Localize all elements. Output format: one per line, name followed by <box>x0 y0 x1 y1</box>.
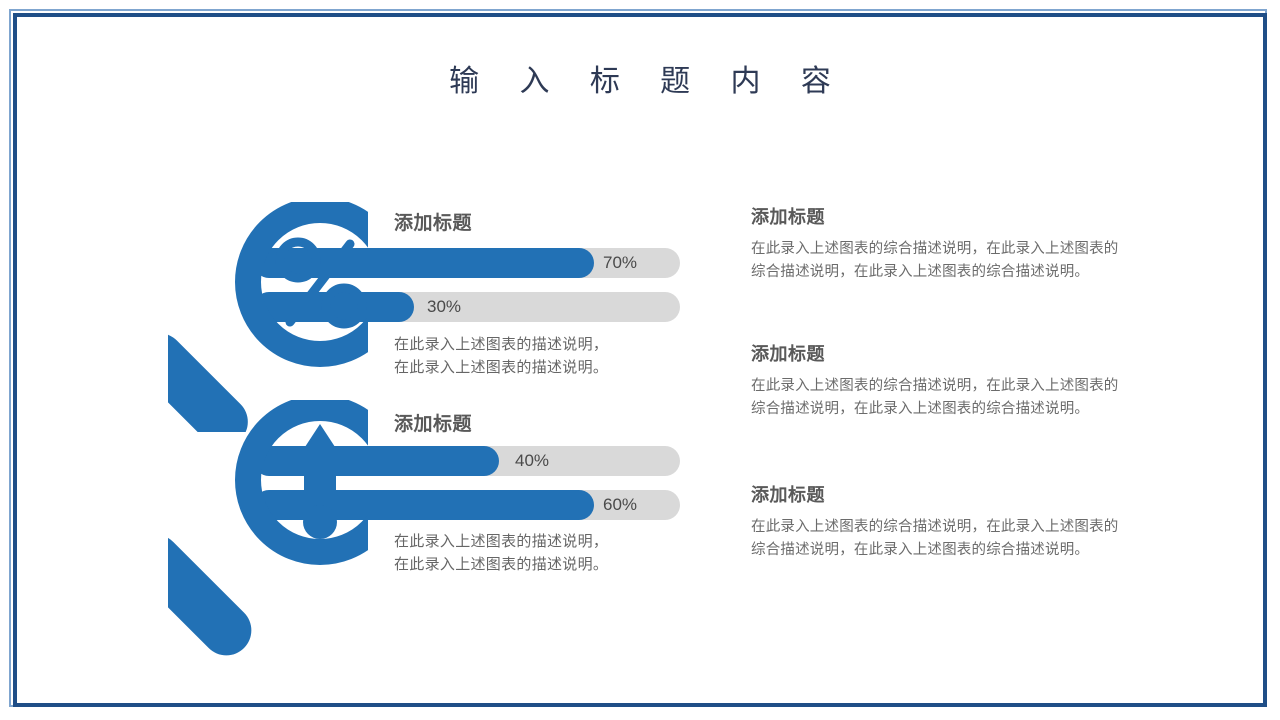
bar-value-label: 60% <box>603 490 637 520</box>
bar-value-label: 40% <box>515 446 549 476</box>
arrow-up-magnifier-icon <box>168 400 368 660</box>
right-block-2: 添加标题 在此录入上述图表的综合描述说明，在此录入上述图表的综合描述说明，在此录… <box>751 340 1126 421</box>
bar-value-label: 70% <box>603 248 637 278</box>
right-block-1: 添加标题 在此录入上述图表的综合描述说明，在此录入上述图表的综合描述说明，在此录… <box>751 203 1126 284</box>
right-block-body: 在此录入上述图表的综合描述说明，在此录入上述图表的综合描述说明，在此录入上述图表… <box>751 375 1126 421</box>
group-heading-1: 添加标题 <box>394 208 472 235</box>
percent-magnifier-icon <box>168 202 368 432</box>
group-description-1: 在此录入上述图表的描述说明， 在此录入上述图表的描述说明。 <box>394 333 694 379</box>
right-block-body: 在此录入上述图表的综合描述说明，在此录入上述图表的综合描述说明，在此录入上述图表… <box>751 238 1126 284</box>
page-title: 输 入 标 题 内 容 <box>0 56 1280 100</box>
slide-canvas: 输 入 标 题 内 容 70% 30% 添加标题 在此录入上述图表的描述说明， … <box>0 0 1280 720</box>
arrow-up-glyph <box>286 424 354 539</box>
right-block-body: 在此录入上述图表的综合描述说明，在此录入上述图表的综合描述说明，在此录入上述图表… <box>751 516 1126 562</box>
right-block-3: 添加标题 在此录入上述图表的综合描述说明，在此录入上述图表的综合描述说明，在此录… <box>751 481 1126 562</box>
group-description-2: 在此录入上述图表的描述说明， 在此录入上述图表的描述说明。 <box>394 530 694 576</box>
magnifier-handle-shape <box>168 524 262 660</box>
right-block-title: 添加标题 <box>751 481 1126 507</box>
group-heading-2: 添加标题 <box>394 409 472 436</box>
percent-glyph <box>280 242 362 324</box>
bar-value-label: 30% <box>427 292 461 322</box>
right-block-title: 添加标题 <box>751 340 1126 366</box>
magnifier-ring-shape <box>248 210 368 354</box>
right-block-title: 添加标题 <box>751 203 1126 229</box>
